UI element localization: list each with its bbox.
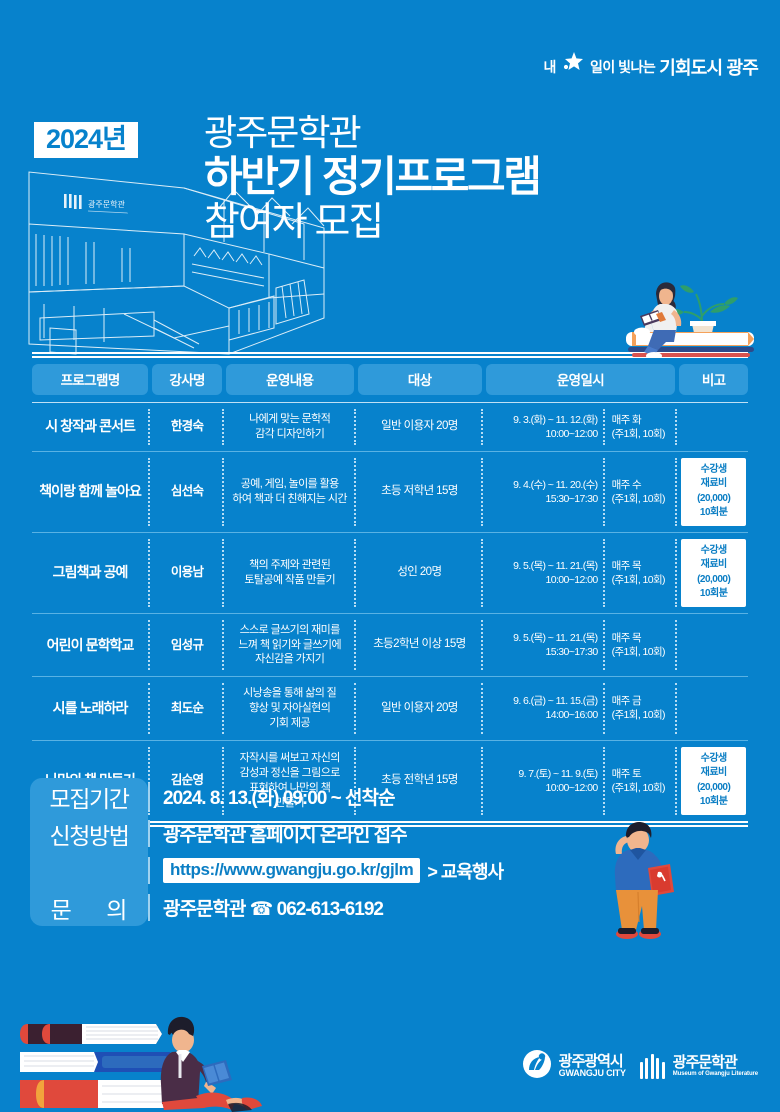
cell-instructor: 임성규 [152,614,222,677]
gwangju-city-logo-icon [522,1049,552,1084]
cell-target: 성인 20명 [358,533,482,613]
th-description: 운영내용 [226,364,354,395]
cell-instructor: 최도순 [152,677,222,740]
cell-date: 9. 5.(목) ~ 11. 21.(목) 15:30~17:30 [485,614,602,677]
cell-program: 어린이 문학학교 [32,614,148,677]
title-line-2: 하반기 정기프로그램 [204,152,539,202]
slogan-bold: 기회도시 광주 [659,54,758,80]
cell-target: 초등 저학년 15명 [358,452,482,532]
divider [148,783,150,810]
cell-frequency: 매주 수 (주1회, 10회) [607,452,676,532]
divider [148,857,150,884]
info-row-url: https://www.gwangju.go.kr/gjlm > 교육행사 [30,852,630,889]
cell-program: 시 창작과 콘서트 [32,403,148,451]
info-row-period: 모집기간 2024. 8. 13.(화) 09:00 ~ 선착순 [30,778,630,815]
city-name-en: GWANGJU CITY [559,1069,626,1079]
cell-description: 책의 주제와 관련된 토탈공예 작품 만들기 [226,533,354,613]
material-fee-badge: 수강생 재료비 (20,000) 10회분 [681,747,746,815]
label-period: 모집기간 [30,780,148,814]
divider [148,820,150,847]
material-fee-badge: 수강생 재료비 (20,000) 10회분 [681,458,746,526]
application-info: 모집기간 2024. 8. 13.(화) 09:00 ~ 선착순 신청방법 광주… [30,778,630,926]
cell-program: 그림책과 공예 [32,533,148,613]
table-header-row: 프로그램명 강사명 운영내용 대상 운영일시 비고 [32,358,748,402]
cell-note [679,614,748,677]
seated-reader-books-illustration [20,1008,270,1112]
application-url-link[interactable]: https://www.gwangju.go.kr/gjlm [163,858,420,883]
th-instructor: 강사명 [152,364,222,395]
value-method: 광주문학관 홈페이지 온라인 접수 [163,820,407,847]
cell-instructor: 심선숙 [152,452,222,532]
cell-target: 일반 이용자 20명 [358,677,482,740]
cell-instructor: 한경숙 [152,403,222,451]
cell-program: 책이랑 함께 놀아요 [32,452,148,532]
cell-date: 9. 6.(금) ~ 11. 15.(금) 14:00~16:00 [485,677,602,740]
program-table: 프로그램명 강사명 운영내용 대상 운영일시 비고 시 창작과 콘서트한경숙나에… [32,352,748,827]
cell-date: 9. 3.(화) ~ 11. 12.(화) 10:00~12:00 [485,403,602,451]
cell-note: 수강생 재료비 (20,000) 10회분 [679,452,748,532]
cell-note [679,677,748,740]
cell-note: 수강생 재료비 (20,000) 10회분 [679,741,748,821]
th-note: 비고 [679,364,748,395]
cell-description: 시낭송을 통해 삶의 질 향상 및 자아실현의 기회 제공 [226,677,354,740]
table-row: 시를 노래하라최도순시낭송을 통해 삶의 질 향상 및 자아실현의 기회 제공일… [32,676,748,740]
cell-note [679,403,748,451]
table-row: 시 창작과 콘서트한경숙나에게 맞는 문학적 감각 디자인하기일반 이용자 20… [32,403,748,451]
cell-program: 시를 노래하라 [32,677,148,740]
cell-frequency: 매주 목 (주1회, 10회) [607,614,676,677]
th-target: 대상 [358,364,482,395]
building-logo-text: 광주문학관 [88,199,125,209]
woman-reading-illustration [610,272,762,358]
label-method: 신청방법 [30,817,148,851]
info-row-contact: 문 의 광주문학관 ☎ 062-613-6192 [30,889,630,926]
cell-frequency: 매주 금 (주1회, 10회) [607,677,676,740]
th-schedule: 운영일시 [486,364,676,395]
slogan-pre: 내 [544,57,556,77]
museum-name-en: Museum of Gwangju Literature [673,1071,758,1078]
cell-date: 9. 4.(수) ~ 11. 20.(수) 15:30~17:30 [485,452,602,532]
cell-note: 수강생 재료비 (20,000) 10회분 [679,533,748,613]
star-icon [560,54,586,80]
slogan-mid: 일이 빛나는 [590,57,655,77]
city-name: 광주광역시 [559,1054,626,1070]
footer-logos: 광주광역시 GWANGJU CITY 광주문학관 Museum of Gwang… [522,1049,758,1084]
cell-frequency: 매주 화 (주1회, 10회) [607,403,676,451]
standing-man-illustration [586,818,696,950]
museum-logo: 광주문학관 Museum of Gwangju Literature [640,1054,758,1079]
cell-description: 나에게 맞는 문학적 감각 디자인하기 [226,403,354,451]
cell-frequency: 매주 목 (주1회, 10회) [607,533,676,613]
label-contact: 문 의 [30,891,148,925]
cell-description: 스스로 글쓰기의 재미를 느껴 책 읽기와 글쓰기에 자신감을 가지기 [226,614,354,677]
value-period: 2024. 8. 13.(화) 09:00 ~ 선착순 [163,783,394,810]
cell-target: 초등2학년 이상 15명 [358,614,482,677]
table-row: 그림책과 공예이용남책의 주제와 관련된 토탈공예 작품 만들기성인 20명9.… [32,532,748,613]
info-row-method: 신청방법 광주문학관 홈페이지 온라인 접수 [30,815,630,852]
cell-date: 9. 5.(목) ~ 11. 21.(목) 10:00~12:00 [485,533,602,613]
year-badge: 2024년 [34,122,138,158]
museum-name: 광주문학관 [673,1055,758,1071]
cell-description: 공예, 게임, 놀이를 활용 하여 책과 더 친해지는 시간 [226,452,354,532]
th-program: 프로그램명 [32,364,148,395]
value-contact: 광주문학관 ☎ 062-613-6192 [163,894,383,921]
gwangju-city-logo: 광주광역시 GWANGJU CITY [522,1049,626,1084]
table-body: 시 창작과 콘서트한경숙나에게 맞는 문학적 감각 디자인하기일반 이용자 20… [32,403,748,821]
table-row: 어린이 문학학교임성규스스로 글쓰기의 재미를 느껴 책 읽기와 글쓰기에 자신… [32,613,748,677]
poster-root: 내 일이 빛나는 기회도시 광주 [0,0,780,1112]
cell-instructor: 이용남 [152,533,222,613]
divider [148,894,150,921]
url-suffix: > 교육행사 [427,858,503,884]
table-row: 책이랑 함께 놀아요심선숙공예, 게임, 놀이를 활용 하여 책과 더 친해지는… [32,451,748,532]
museum-bars-logo-icon [640,1054,665,1079]
material-fee-badge: 수강생 재료비 (20,000) 10회분 [681,539,746,607]
title-line-3: 참여자 모집 [204,200,539,247]
poster-title: 2024년 광주문학관 하반기 정기프로그램 참여자 모집 [34,116,754,152]
cell-target: 일반 이용자 20명 [358,403,482,451]
title-line-1: 광주문학관 [204,112,539,154]
city-slogan: 내 일이 빛나는 기회도시 광주 [544,54,758,80]
